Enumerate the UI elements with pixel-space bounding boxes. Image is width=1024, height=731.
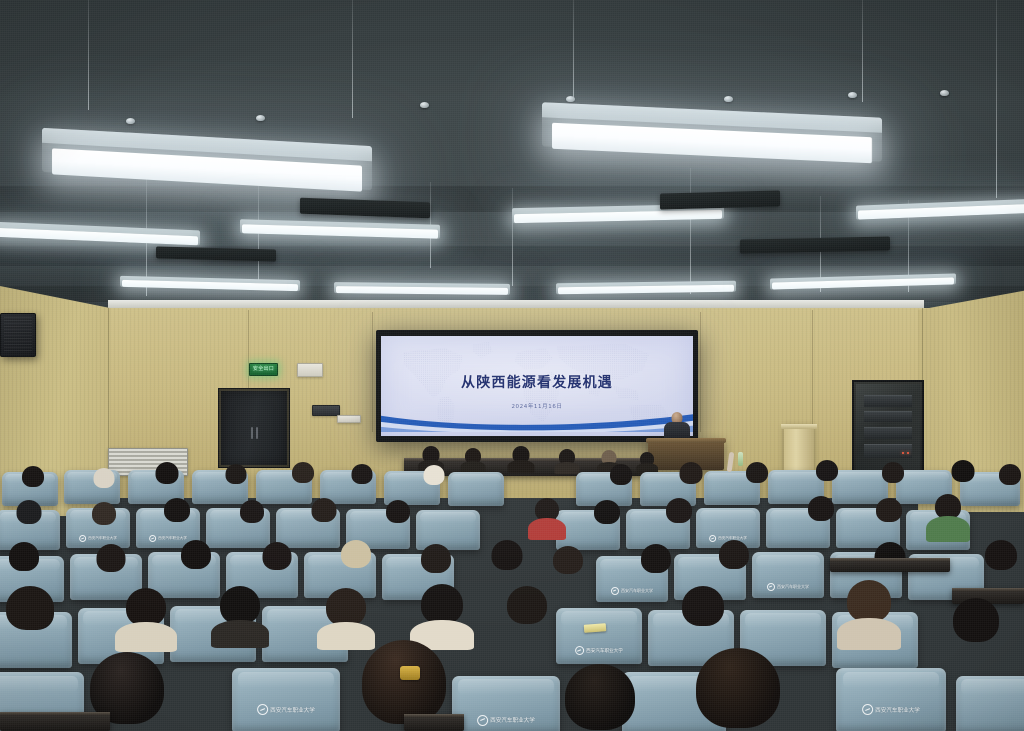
seat-logo: 西安汽车职业大学: [575, 646, 623, 655]
pillar-cap: [781, 424, 817, 429]
person-head: [292, 462, 314, 483]
seat-logo: 西安汽车职业大学: [767, 583, 809, 591]
audience-person: [90, 468, 118, 498]
audience-person: [510, 446, 532, 474]
person-head: [6, 586, 54, 630]
ceiling-duct-block: [660, 190, 780, 209]
audience-person: [878, 462, 908, 494]
audience-person-green-vest: [926, 494, 970, 542]
person-head: [610, 464, 632, 485]
light-hanger-wire: [258, 178, 259, 290]
person-head: [226, 464, 247, 484]
projection-screen: 从陕西能源看发展机遇 2024年11月16日: [381, 336, 693, 436]
light-hanger-wire: [862, 0, 863, 102]
exit-sign: 安全出口: [249, 363, 278, 376]
door-handle[interactable]: [251, 427, 253, 439]
audience-person: [92, 544, 130, 586]
audience-person-cap: [336, 540, 376, 586]
seat-logo-text: 西安汽车职业大学: [875, 706, 920, 714]
audience-person: [222, 464, 250, 494]
seat-logo-text: 西安汽车职业大学: [270, 706, 315, 714]
audience-person: [946, 598, 1006, 668]
person-head: [9, 542, 39, 571]
person-head: [985, 540, 1017, 570]
ceiling-mount-plate: [724, 96, 733, 102]
ceiling-mount-plate: [126, 118, 135, 124]
audience-person: [872, 498, 906, 536]
person-head: [421, 544, 451, 573]
person-head: [847, 580, 891, 622]
person-head: [362, 640, 446, 724]
person-head: [421, 584, 463, 624]
person-head: [22, 466, 44, 487]
person-head: [696, 648, 780, 728]
audience-person-foreground: [560, 664, 640, 731]
person-head: [808, 496, 834, 521]
audience-person: [556, 449, 578, 475]
person-head: [326, 588, 366, 626]
audience-person: [308, 498, 340, 536]
rack-unit: [864, 427, 913, 439]
ceiling-mount-plate: [420, 102, 429, 108]
audience-person: [996, 464, 1024, 496]
audience-person: [840, 580, 898, 650]
desk-edge: [404, 714, 464, 717]
door-handle[interactable]: [256, 427, 258, 439]
person-head: [680, 462, 703, 484]
audience-person: [214, 586, 266, 650]
auditorium-seat[interactable]: 西安汽车职业大学: [752, 552, 824, 598]
light-hanger-wire: [512, 188, 513, 286]
desk-edge: [0, 712, 110, 715]
person-head: [156, 462, 179, 484]
audience-person: [662, 498, 696, 536]
seat-logo: 西安汽车职业大学: [257, 704, 315, 715]
person-head: [882, 462, 904, 483]
person-head: [492, 540, 523, 570]
person-shoulders: [926, 516, 970, 542]
projection-screen-frame: 从陕西能源看发展机遇 2024年11月16日: [376, 330, 698, 442]
school-emblem-icon: [79, 535, 86, 542]
slide-title: 从陕西能源看发展机遇: [381, 372, 693, 392]
person-head: [999, 464, 1021, 485]
seat-logo-text: 西安汽车职业大学: [490, 716, 535, 724]
person-shoulders: [837, 618, 901, 650]
audience-person: [176, 540, 216, 586]
person-head: [553, 546, 583, 574]
person-head: [352, 464, 373, 484]
person-head: [876, 498, 902, 522]
person-head: [952, 460, 975, 482]
audience-person: [590, 500, 624, 538]
desk-edge: [830, 558, 950, 561]
person-head: [181, 540, 211, 569]
ceiling-mount-plate: [256, 115, 265, 121]
seat-logo-text: 西安汽车职业大学: [88, 536, 117, 541]
rack-unit: [864, 411, 913, 422]
person-head: [682, 586, 724, 626]
wall-seam: [700, 312, 701, 432]
light-hanger-wire: [690, 168, 691, 294]
person-head: [126, 588, 166, 626]
audience-person: [500, 586, 554, 650]
light-hanger-wire: [996, 0, 997, 198]
ceiling-mount-plate: [848, 92, 857, 98]
light-hanger-wire: [573, 0, 574, 100]
audience-person: [462, 448, 484, 474]
audience-person: [804, 496, 838, 536]
wall-speaker: [0, 313, 36, 357]
audience-person: [812, 460, 842, 494]
audience-person: [676, 462, 706, 494]
person-shoulders: [555, 462, 580, 474]
school-emblem-icon: [149, 535, 156, 542]
rack-unit: [864, 395, 913, 408]
person-head: [666, 498, 692, 523]
desk-edge: [952, 588, 1024, 591]
person-head: [341, 540, 371, 568]
audience-person-red-jacket: [528, 498, 566, 540]
person-head: [97, 544, 126, 572]
audience-person: [486, 540, 528, 588]
audience-person: [980, 540, 1022, 588]
audience-person: [948, 460, 978, 494]
audience-person: [288, 462, 318, 494]
person-shoulders: [528, 518, 566, 540]
wall-notice-plate: [297, 363, 323, 377]
person-head: [424, 465, 445, 485]
door-frame: [219, 389, 289, 467]
rack-unit: [864, 444, 913, 458]
person-head: [746, 462, 768, 483]
audience-person: [236, 500, 268, 536]
person-head: [263, 542, 292, 570]
person-head: [220, 586, 260, 624]
school-emblem-icon: [862, 704, 873, 715]
audience-person: [18, 466, 48, 496]
person-head: [507, 586, 547, 624]
ceiling-mount-plate: [940, 90, 949, 96]
audience-person: [636, 544, 676, 588]
auditorium-seat[interactable]: 西安汽车职业大学: [452, 676, 560, 731]
person-shoulders: [211, 620, 269, 648]
auditorium-seat[interactable]: 西安汽车职业大学: [556, 608, 642, 664]
audience-person-raising-phone: [724, 452, 738, 474]
auditorium-seat[interactable]: 西安汽车职业大学: [232, 668, 340, 731]
person-head: [240, 500, 264, 523]
auditorium-seat[interactable]: [448, 472, 504, 506]
person-head: [719, 540, 749, 569]
foreground-desk: [404, 714, 464, 731]
seat-logo: 西安汽车职业大学: [477, 715, 535, 726]
slide-accent-swoosh: [381, 406, 693, 432]
wall-label-plate: [337, 415, 361, 423]
seat-logo-text: 西安汽车职业大学: [586, 648, 623, 654]
audience-person-foreground: [0, 586, 60, 656]
notebook-on-desk: [584, 623, 607, 633]
podium-top: [646, 438, 726, 443]
audience-person: [160, 498, 194, 536]
linear-tube-light: [334, 282, 510, 295]
person-head: [816, 460, 838, 481]
raised-arm: [727, 452, 735, 473]
audience-person: [420, 465, 448, 495]
person-head: [17, 500, 42, 524]
school-emblem-icon: [611, 587, 619, 595]
school-emblem-icon: [767, 583, 775, 591]
person-head: [641, 544, 671, 573]
person-head: [594, 500, 620, 524]
exit-sign-label: 安全出口: [253, 367, 274, 372]
wall-pillar: [784, 424, 814, 470]
wall-control-panel: [312, 405, 340, 416]
person-shoulders: [508, 460, 535, 473]
light-hanger-wire: [352, 0, 353, 118]
light-hanger-wire: [88, 0, 89, 110]
lecture-hall-photo: 安全出口: [0, 0, 1024, 731]
side-door-left[interactable]: [218, 388, 290, 468]
audience-desk: [830, 558, 950, 572]
seat-logo-text: 西安汽车职业大学: [621, 588, 653, 594]
audience-person: [742, 458, 772, 494]
audience-person: [258, 542, 296, 586]
person-head: [164, 498, 190, 522]
seat-logo-text: 西安汽车职业大学: [777, 584, 809, 590]
person-head: [94, 468, 115, 488]
foreground-desk: [0, 712, 110, 731]
av-equipment-rack: [852, 380, 924, 474]
rack-status-led: [907, 452, 909, 454]
audience-person: [88, 502, 120, 536]
audience-person: [4, 542, 44, 586]
audience-person: [714, 540, 754, 586]
person-head: [92, 502, 116, 525]
audience-person: [152, 462, 182, 494]
audience-person: [12, 500, 46, 536]
audience-person-foreground: [690, 648, 786, 731]
audience-person-white-coat: [118, 588, 174, 654]
hair-clip: [400, 666, 420, 680]
audience-person: [416, 544, 456, 588]
wall-seam: [372, 312, 373, 432]
person-shoulders: [115, 622, 177, 652]
audience-person: [606, 464, 636, 496]
school-emblem-icon: [257, 704, 268, 715]
audience-person: [382, 500, 414, 536]
audience-person: [548, 546, 588, 590]
audience-person: [676, 586, 730, 652]
school-emblem-icon: [575, 646, 584, 655]
auditorium-seat[interactable]: 西安汽车职业大学: [836, 668, 946, 731]
person-head: [953, 598, 999, 642]
rack-status-led: [902, 452, 904, 454]
person-head: [312, 498, 337, 522]
audience-person: [348, 464, 376, 494]
ceiling-mount-plate: [566, 96, 575, 102]
seat-logo: 西安汽车职业大学: [862, 704, 920, 715]
school-emblem-icon: [477, 715, 488, 726]
auditorium-seat[interactable]: [956, 676, 1024, 731]
person-head: [565, 664, 635, 730]
person-head: [386, 500, 410, 523]
